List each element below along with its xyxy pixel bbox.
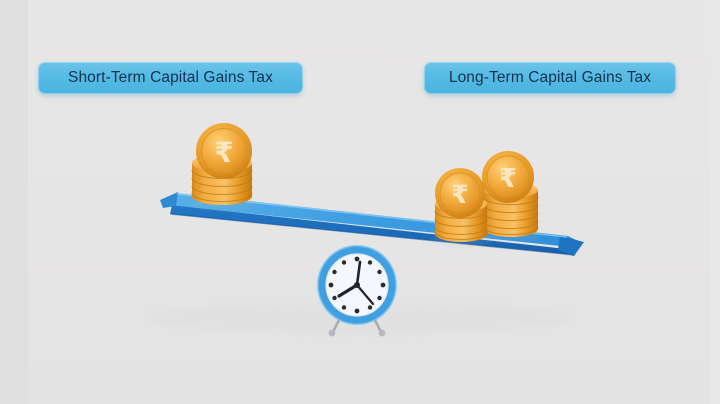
label-short-term-capital-gains-tax: Short-Term Capital Gains Tax: [38, 62, 303, 94]
rupee-coin-right-front: ₹: [435, 168, 485, 218]
rupee-coin-right-back: ₹: [482, 151, 534, 203]
label-long-term-capital-gains-tax: Long-Term Capital Gains Tax: [424, 62, 676, 94]
coin-stack-left: ₹: [188, 123, 256, 210]
seesaw-scale: ₹ ₹: [0, 0, 720, 404]
rupee-symbol-right-front: ₹: [451, 180, 468, 209]
rupee-symbol-left: ₹: [214, 136, 233, 169]
clock-center-pin: [354, 282, 360, 288]
clock-foot-right: [379, 330, 386, 337]
coin-stack-right-back: ₹: [479, 151, 543, 242]
alarm-clock: [311, 240, 403, 338]
clock-foot-left: [329, 330, 336, 337]
illustration-canvas: ₹ ₹: [0, 0, 720, 404]
rupee-coin-left: ₹: [196, 123, 252, 179]
rupee-symbol-right-back: ₹: [499, 164, 517, 194]
